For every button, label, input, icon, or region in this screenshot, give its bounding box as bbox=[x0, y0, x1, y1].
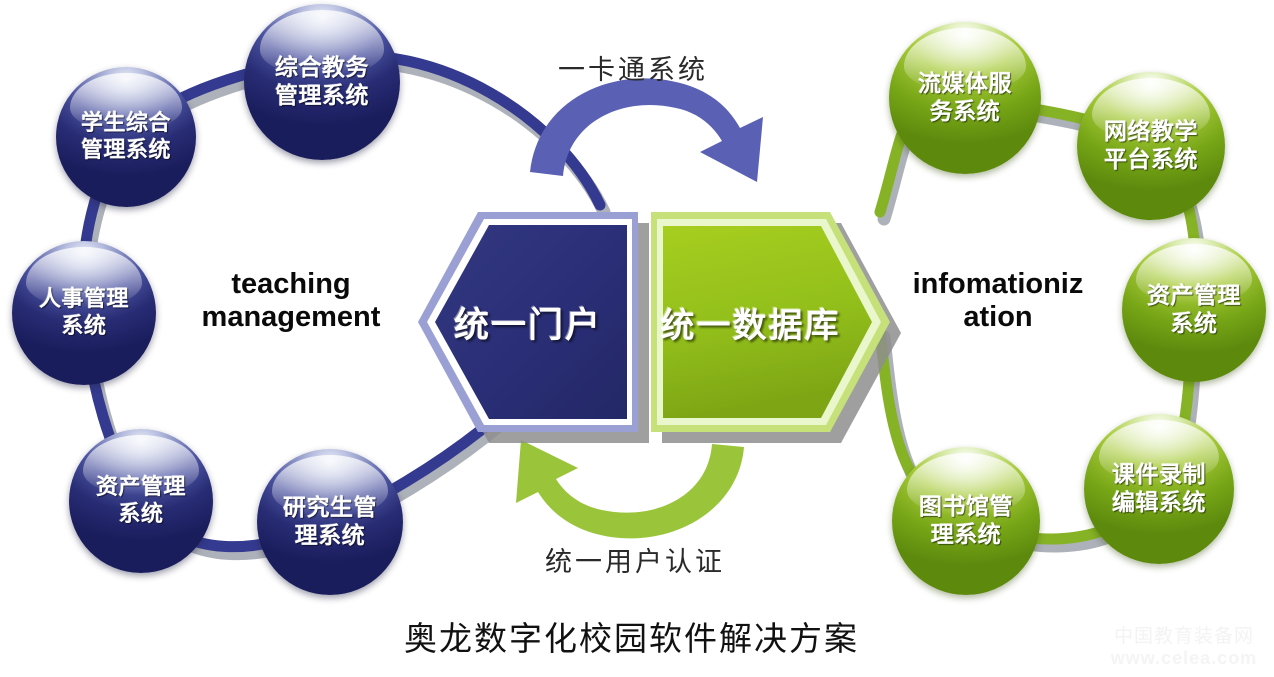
caption-teaching-management: teaching management bbox=[186, 268, 396, 335]
bottom-arrow-unified-auth bbox=[516, 440, 744, 538]
node-asset-management-right[interactable]: 资产管理 系统 bbox=[1122, 238, 1266, 382]
diagram-canvas: 统一门户 统一数据库 teaching management infomatio… bbox=[0, 0, 1274, 677]
arrow-label-one-card-system: 一卡通系统 bbox=[558, 48, 708, 87]
node-label: 流媒体服 务系统 bbox=[912, 70, 1018, 126]
hexagon-left-label-wrap: 统一门户 bbox=[418, 212, 638, 432]
node-label: 研究生管 理系统 bbox=[277, 494, 383, 550]
node-label: 人事管理 系统 bbox=[33, 286, 135, 340]
node-graduate-management[interactable]: 研究生管 理系统 bbox=[257, 449, 403, 595]
node-label: 课件录制 编辑系统 bbox=[1106, 461, 1212, 517]
node-asset-management-left[interactable]: 资产管理 系统 bbox=[69, 429, 213, 573]
node-courseware-recording[interactable]: 课件录制 编辑系统 bbox=[1084, 414, 1234, 564]
node-label: 资产管理 系统 bbox=[1141, 282, 1247, 338]
node-label: 综合教务 管理系统 bbox=[269, 54, 375, 110]
hexagon-right-label-wrap: 统一数据库 bbox=[651, 212, 890, 432]
top-arrow-one-card-system bbox=[530, 78, 763, 182]
page-title: 奥龙数字化校园软件解决方案 bbox=[404, 612, 859, 660]
unified-portal-label: 统一门户 bbox=[418, 297, 638, 348]
arrow-label-unified-authentication: 统一用户认证 bbox=[545, 540, 725, 579]
node-streaming-media[interactable]: 流媒体服 务系统 bbox=[889, 22, 1041, 174]
node-label: 资产管理 系统 bbox=[90, 474, 192, 528]
node-label: 学生综合 管理系统 bbox=[75, 110, 177, 164]
node-hr-management[interactable]: 人事管理 系统 bbox=[12, 241, 156, 385]
node-online-teaching-platform[interactable]: 网络教学 平台系统 bbox=[1077, 72, 1225, 220]
caption-infomationization: infomationiz ation bbox=[892, 268, 1104, 335]
node-label: 网络教学 平台系统 bbox=[1098, 118, 1204, 174]
node-academic-affairs[interactable]: 综合教务 管理系统 bbox=[244, 4, 400, 160]
unified-database-label: 统一数据库 bbox=[641, 298, 860, 347]
node-label: 图书馆管 理系统 bbox=[913, 493, 1019, 549]
node-library-management[interactable]: 图书馆管 理系统 bbox=[892, 447, 1040, 595]
node-student-comprehensive[interactable]: 学生综合 管理系统 bbox=[56, 67, 196, 207]
